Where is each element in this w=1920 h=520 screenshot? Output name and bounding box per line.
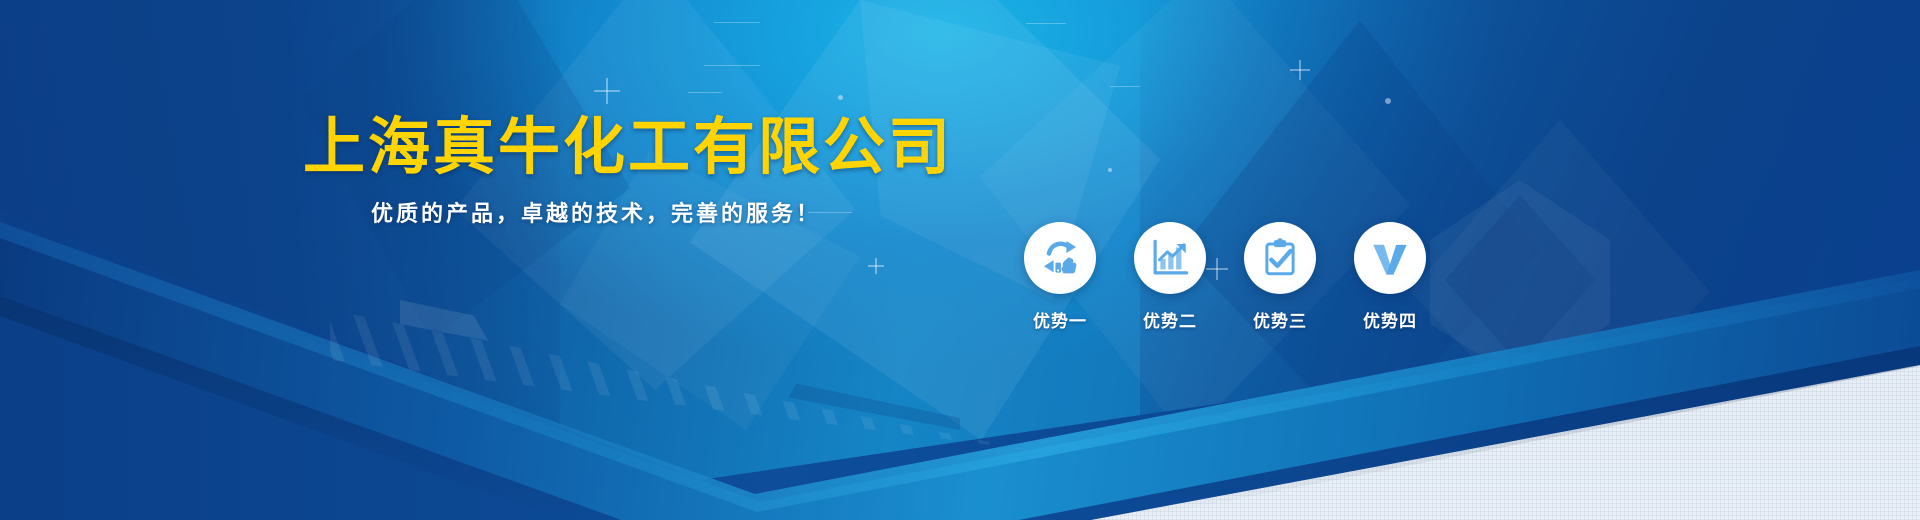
refresh-thumbs-up-icon <box>1038 236 1082 280</box>
advantage-label: 优势三 <box>1253 307 1307 332</box>
slogan-text: 优质的产品，卓越的技术，完善的服务！ <box>371 196 821 228</box>
advantage-icon-badge[interactable] <box>1024 222 1096 294</box>
advantage-label: 优势二 <box>1143 307 1197 332</box>
advantage-item-3[interactable]: 优势三 <box>1244 222 1316 332</box>
advantage-item-1[interactable]: 优势一 <box>1024 222 1096 332</box>
advantage-list: 优势一 优势二 <box>1024 222 1426 332</box>
v-check-icon <box>1369 237 1411 279</box>
advantage-icon-badge[interactable] <box>1244 222 1316 294</box>
advantage-item-2[interactable]: 优势二 <box>1134 222 1206 332</box>
advantage-label: 优势四 <box>1363 307 1417 332</box>
advantage-icon-badge[interactable] <box>1134 222 1206 294</box>
advantage-item-4[interactable]: 优势四 <box>1354 222 1426 332</box>
advantage-label: 优势一 <box>1033 307 1087 332</box>
bar-chart-growth-icon <box>1149 237 1191 279</box>
advantage-icon-badge[interactable] <box>1354 222 1426 294</box>
page-title: 上海真牛化工有限公司 <box>303 96 953 186</box>
company-hero-banner: 上海真牛化工有限公司 优质的产品，卓越的技术，完善的服务！ 优势一 <box>0 0 1920 520</box>
clipboard-check-icon <box>1259 237 1301 279</box>
